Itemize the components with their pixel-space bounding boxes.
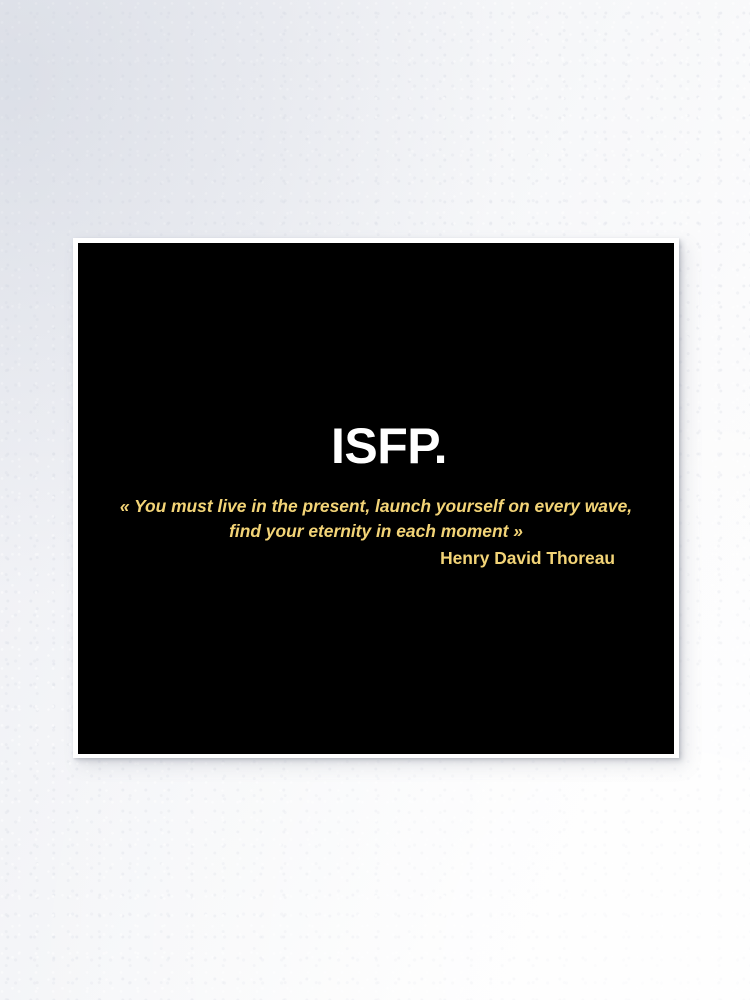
framed-poster[interactable]: ISFP. « You must live in the present, la…	[73, 238, 679, 758]
poster-artwork: ISFP. « You must live in the present, la…	[78, 243, 674, 754]
quote-text: « You must live in the present, launch y…	[78, 494, 674, 544]
poster-scene: ISFP. « You must live in the present, la…	[0, 0, 750, 1000]
quote-attribution: Henry David Thoreau	[78, 546, 674, 571]
page-title: ISFP.	[78, 421, 674, 472]
poster-text-block: ISFP. « You must live in the present, la…	[78, 421, 674, 571]
